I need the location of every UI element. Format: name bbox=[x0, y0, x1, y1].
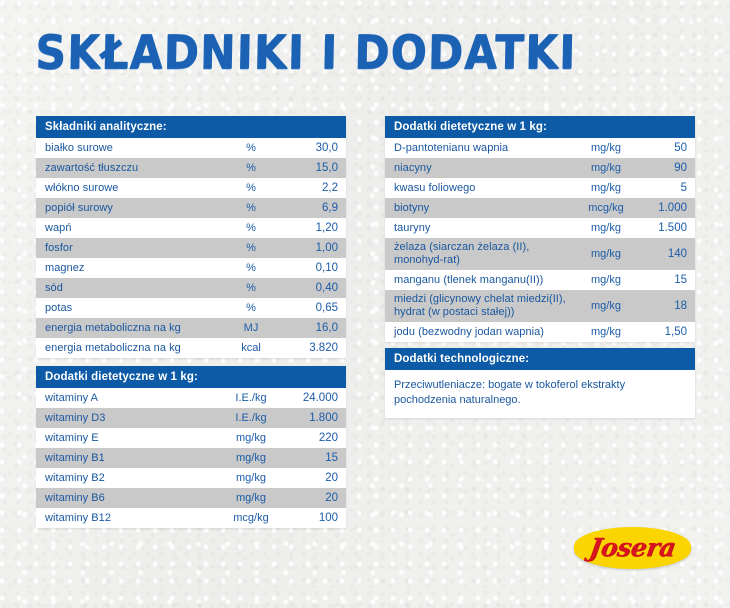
row-unit: mg/kg bbox=[573, 248, 639, 260]
table-row: wapń%1,20 bbox=[36, 218, 346, 238]
row-label: wapń bbox=[45, 219, 220, 238]
row-unit: I.E./kg bbox=[220, 412, 282, 424]
table-row: włókno surowe%2,2 bbox=[36, 178, 346, 198]
row-label: witaminy B2 bbox=[45, 469, 220, 488]
row-unit: % bbox=[220, 302, 282, 314]
row-label: witaminy E bbox=[45, 429, 220, 448]
row-value: 6,9 bbox=[282, 202, 338, 214]
row-value: 0,40 bbox=[282, 282, 338, 294]
row-value: 1.000 bbox=[639, 202, 687, 214]
row-label: witaminy B6 bbox=[45, 489, 220, 508]
row-value: 1,20 bbox=[282, 222, 338, 234]
row-unit: mg/kg bbox=[220, 492, 282, 504]
table-row: potas%0,65 bbox=[36, 298, 346, 318]
row-value: 0,65 bbox=[282, 302, 338, 314]
table-row: popiół surowy%6,9 bbox=[36, 198, 346, 218]
row-label: niacyny bbox=[394, 159, 573, 178]
row-value: 1,50 bbox=[639, 326, 687, 338]
table-row: kwasu foliowegomg/kg5 bbox=[385, 178, 695, 198]
row-unit: mg/kg bbox=[573, 274, 639, 286]
table-dietary-additives-right: Dodatki dietetyczne w 1 kg: D-pantotenia… bbox=[385, 116, 695, 342]
table-header-dietary-right: Dodatki dietetyczne w 1 kg: bbox=[385, 116, 695, 138]
table-row: biotynymcg/kg1.000 bbox=[385, 198, 695, 218]
panel-technological-additives: Dodatki technologiczne: Przeciwutleniacz… bbox=[385, 348, 695, 418]
table-row: sód%0,40 bbox=[36, 278, 346, 298]
row-value: 90 bbox=[639, 162, 687, 174]
row-unit: % bbox=[220, 242, 282, 254]
row-label: kwasu foliowego bbox=[394, 179, 573, 198]
row-label: manganu (tlenek manganu(II)) bbox=[394, 271, 573, 290]
row-unit: mg/kg bbox=[573, 300, 639, 312]
table-row: energia metaboliczna na kgkcal3.820 bbox=[36, 338, 346, 358]
row-unit: % bbox=[220, 282, 282, 294]
table-row: witaminy B2mg/kg20 bbox=[36, 468, 346, 488]
row-value: 50 bbox=[639, 142, 687, 154]
row-label: potas bbox=[45, 299, 220, 318]
table-body-dietary-right: D-pantotenianu wapniamg/kg50niacynymg/kg… bbox=[385, 138, 695, 342]
row-unit: mg/kg bbox=[220, 452, 282, 464]
row-unit: I.E./kg bbox=[220, 392, 282, 404]
row-label: witaminy B1 bbox=[45, 449, 220, 468]
row-value: 1,00 bbox=[282, 242, 338, 254]
row-value: 140 bbox=[639, 248, 687, 260]
table-dietary-additives-left: Dodatki dietetyczne w 1 kg: witaminy AI.… bbox=[36, 366, 346, 528]
row-label: witaminy A bbox=[45, 389, 220, 408]
row-value: 16,0 bbox=[282, 322, 338, 334]
table-row: niacynymg/kg90 bbox=[385, 158, 695, 178]
table-row: jodu (bezwodny jodan wapnia)mg/kg1,50 bbox=[385, 322, 695, 342]
row-label: D-pantotenianu wapnia bbox=[394, 139, 573, 158]
row-value: 1.500 bbox=[639, 222, 687, 234]
table-row: białko surowe%30,0 bbox=[36, 138, 346, 158]
table-analytical-constituents: Składniki analityczne: białko surowe%30,… bbox=[36, 116, 346, 358]
table-body-analytical: białko surowe%30,0zawartość tłuszczu%15,… bbox=[36, 138, 346, 358]
row-unit: % bbox=[220, 162, 282, 174]
row-value: 20 bbox=[282, 492, 338, 504]
table-header-dietary-left: Dodatki dietetyczne w 1 kg: bbox=[36, 366, 346, 388]
row-value: 220 bbox=[282, 432, 338, 444]
table-row: magnez%0,10 bbox=[36, 258, 346, 278]
logo-wordmark: Josera bbox=[572, 535, 693, 560]
table-row: witaminy AI.E./kg24.000 bbox=[36, 388, 346, 408]
row-label: energia metaboliczna na kg bbox=[45, 319, 220, 338]
row-unit: kcal bbox=[220, 342, 282, 354]
table-row: witaminy D3I.E./kg1.800 bbox=[36, 408, 346, 428]
row-label: miedzi (glicynowy chelat miedzi(II), hyd… bbox=[394, 290, 573, 322]
row-unit: % bbox=[220, 142, 282, 154]
table-row: żelaza (siarczan żelaza (II), monohyd-ra… bbox=[385, 238, 695, 270]
row-unit: mg/kg bbox=[220, 472, 282, 484]
row-value: 5 bbox=[639, 182, 687, 194]
table-row: miedzi (glicynowy chelat miedzi(II), hyd… bbox=[385, 290, 695, 322]
row-unit: % bbox=[220, 222, 282, 234]
row-unit: % bbox=[220, 182, 282, 194]
row-unit: mg/kg bbox=[573, 326, 639, 338]
panel-header-technological: Dodatki technologiczne: bbox=[385, 348, 695, 370]
panel-text-technological: Przeciwutleniacze: bogate w tokoferol ek… bbox=[385, 370, 695, 418]
row-label: witaminy D3 bbox=[45, 409, 220, 428]
table-row: witaminy B1mg/kg15 bbox=[36, 448, 346, 468]
table-row: witaminy B6mg/kg20 bbox=[36, 488, 346, 508]
josera-logo: Josera bbox=[574, 527, 691, 569]
row-unit: mg/kg bbox=[573, 182, 639, 194]
row-value: 18 bbox=[639, 300, 687, 312]
row-value: 0,10 bbox=[282, 262, 338, 274]
row-unit: MJ bbox=[220, 322, 282, 334]
row-label: jodu (bezwodny jodan wapnia) bbox=[394, 323, 573, 342]
row-label: tauryny bbox=[394, 219, 573, 238]
row-label: sód bbox=[45, 279, 220, 298]
row-value: 15 bbox=[639, 274, 687, 286]
row-value: 30,0 bbox=[282, 142, 338, 154]
table-row: taurynymg/kg1.500 bbox=[385, 218, 695, 238]
row-value: 15 bbox=[282, 452, 338, 464]
row-label: energia metaboliczna na kg bbox=[45, 339, 220, 358]
table-header-analytical: Składniki analityczne: bbox=[36, 116, 346, 138]
page-title: SKŁADNIKI I DODATKI bbox=[35, 27, 577, 79]
table-body-dietary-left: witaminy AI.E./kg24.000witaminy D3I.E./k… bbox=[36, 388, 346, 528]
row-unit: mg/kg bbox=[220, 432, 282, 444]
row-value: 3.820 bbox=[282, 342, 338, 354]
row-label: zawartość tłuszczu bbox=[45, 159, 220, 178]
row-value: 15,0 bbox=[282, 162, 338, 174]
table-row: D-pantotenianu wapniamg/kg50 bbox=[385, 138, 695, 158]
row-label: włókno surowe bbox=[45, 179, 220, 198]
row-label: magnez bbox=[45, 259, 220, 278]
table-row: manganu (tlenek manganu(II))mg/kg15 bbox=[385, 270, 695, 290]
row-value: 24.000 bbox=[282, 392, 338, 404]
table-row: witaminy Emg/kg220 bbox=[36, 428, 346, 448]
table-row: energia metaboliczna na kgMJ16,0 bbox=[36, 318, 346, 338]
row-unit: % bbox=[220, 202, 282, 214]
row-value: 20 bbox=[282, 472, 338, 484]
row-unit: mcg/kg bbox=[573, 202, 639, 214]
table-row: zawartość tłuszczu%15,0 bbox=[36, 158, 346, 178]
row-value: 2,2 bbox=[282, 182, 338, 194]
row-label: żelaza (siarczan żelaza (II), monohyd-ra… bbox=[394, 238, 573, 270]
row-unit: % bbox=[220, 262, 282, 274]
row-unit: mg/kg bbox=[573, 222, 639, 234]
row-unit: mg/kg bbox=[573, 142, 639, 154]
row-unit: mg/kg bbox=[573, 162, 639, 174]
row-label: witaminy B12 bbox=[45, 509, 220, 528]
row-label: białko surowe bbox=[45, 139, 220, 158]
row-value: 100 bbox=[282, 512, 338, 524]
row-label: popiół surowy bbox=[45, 199, 220, 218]
row-label: fosfor bbox=[45, 239, 220, 258]
table-row: fosfor%1,00 bbox=[36, 238, 346, 258]
row-label: biotyny bbox=[394, 199, 573, 218]
table-row: witaminy B12mcg/kg100 bbox=[36, 508, 346, 528]
row-unit: mcg/kg bbox=[220, 512, 282, 524]
row-value: 1.800 bbox=[282, 412, 338, 424]
